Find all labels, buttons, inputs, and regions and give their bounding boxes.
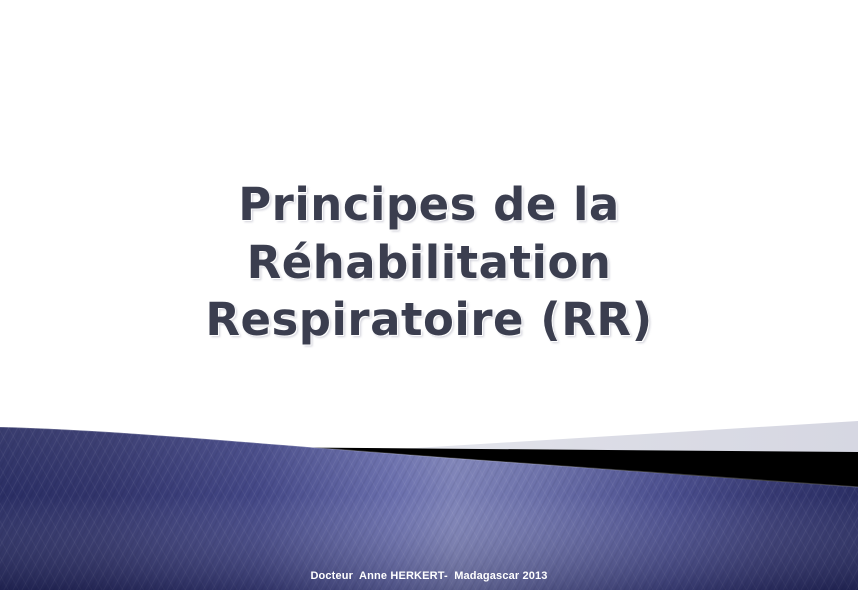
footer-block: Docteur Anne HERKERT- Madagascar 2013 [0,564,858,583]
title-block: Principes de la Réhabilitation Respirato… [0,176,858,349]
slide-title: Principes de la Réhabilitation Respirato… [48,176,810,349]
gray-wedge-shape [300,421,858,455]
footer-credit-text: Docteur Anne HERKERT- Madagascar 2013 [310,570,547,582]
presentation-slide: Principes de la Réhabilitation Respirato… [0,0,858,590]
black-wedge-shape [236,447,858,492]
